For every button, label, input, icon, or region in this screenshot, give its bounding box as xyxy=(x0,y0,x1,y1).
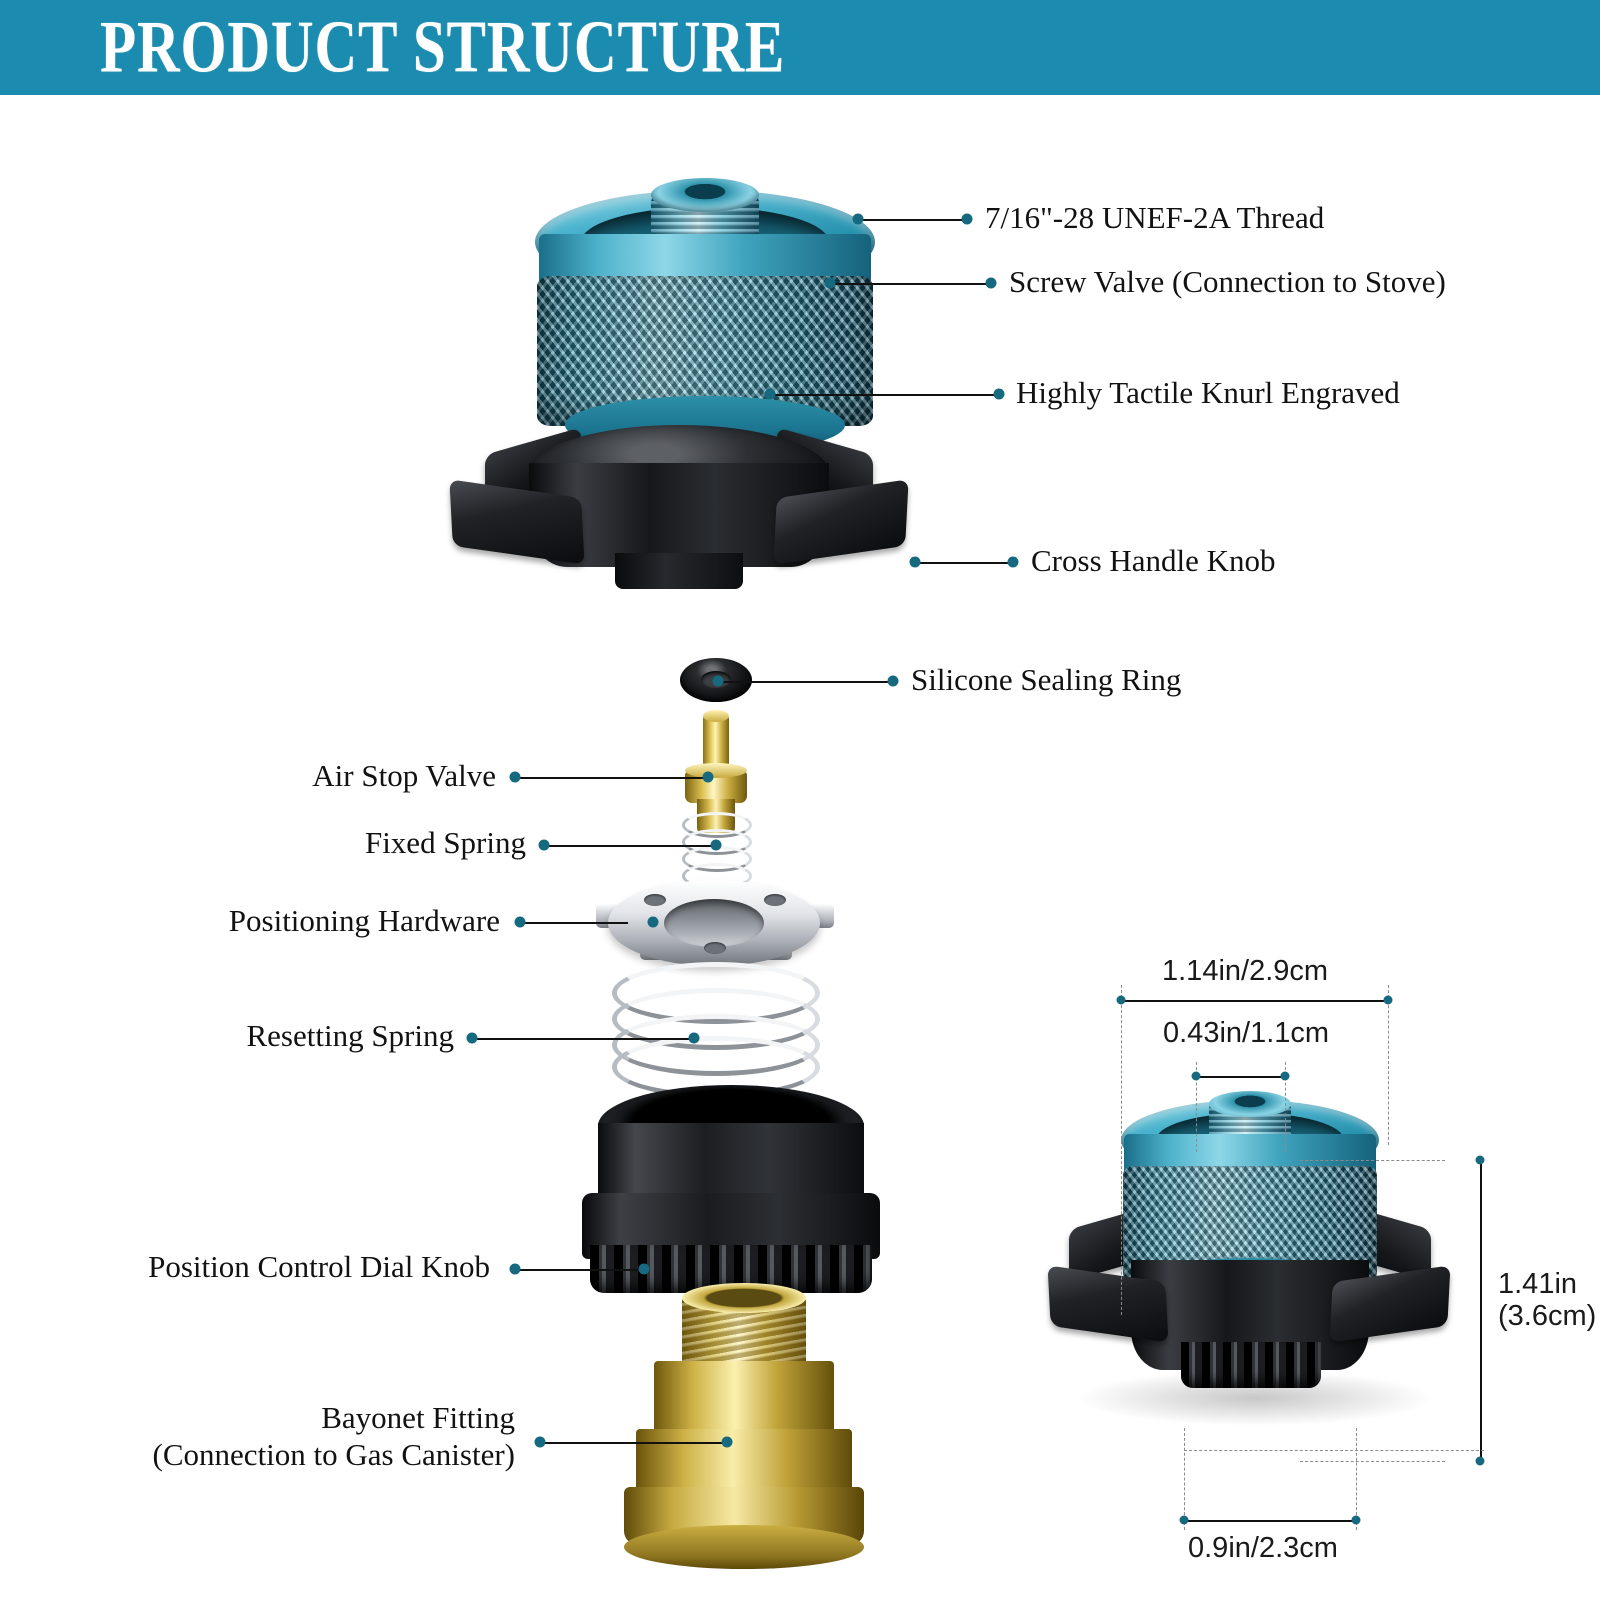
positioning-hardware-bore xyxy=(664,899,764,947)
callout-label-knurl: Highly Tactile Knurl Engraved xyxy=(1016,375,1400,412)
dim-label-base-width: 0.9in/2.3cm xyxy=(1188,1532,1338,1564)
air-stop-valve-flange-top xyxy=(685,763,747,778)
leader-dot-bayonet-end xyxy=(722,1437,733,1448)
assembled-product-group xyxy=(1055,1080,1455,1440)
leader-dot-screw-valve-end xyxy=(986,278,997,289)
leader-dot-knurl-start xyxy=(765,389,776,400)
dim-guide-outer-left xyxy=(1121,985,1122,1315)
dim-dot-height-top xyxy=(1476,1156,1485,1165)
part-resetting-spring xyxy=(612,962,820,1098)
callout-label-screw-valve: Screw Valve (Connection to Stove) xyxy=(1009,264,1446,301)
leader-line-cross-handle-knob xyxy=(912,562,1014,564)
leader-line-air-stop-valve xyxy=(513,777,709,779)
callout-label-thread: 7/16"-28 UNEF-2A Thread xyxy=(985,200,1324,237)
part-positioning-hardware xyxy=(608,880,824,972)
dim-dot-outer-left xyxy=(1117,996,1126,1005)
bayonet-neck-top xyxy=(682,1283,806,1313)
dim-guide-height-bottom xyxy=(1300,1461,1445,1462)
leader-dot-fixed-spring-start xyxy=(539,840,550,851)
leader-line-knurl xyxy=(768,394,1000,396)
leader-dot-thread-end xyxy=(962,214,973,225)
callout-label-bayonet-fitting-line2: (Connection to Gas Canister) xyxy=(50,1437,515,1474)
leader-dot-cross-handle-start xyxy=(910,557,921,568)
dim-guide-base-top xyxy=(1184,1450,1484,1451)
dim-dot-height-bottom xyxy=(1476,1457,1485,1466)
bayonet-body-upper xyxy=(654,1361,834,1439)
leader-line-dial-knob xyxy=(513,1269,643,1271)
callout-label-air-stop-valve: Air Stop Valve xyxy=(186,758,496,795)
positioning-hardware-hole xyxy=(764,894,786,906)
part-bayonet-fitting xyxy=(622,1295,866,1575)
leader-dot-cross-handle-end xyxy=(1008,557,1019,568)
dim-label-thread-width: 0.43in/1.1cm xyxy=(1163,1017,1329,1049)
callout-label-silicone-sealing-ring: Silicone Sealing Ring xyxy=(911,662,1181,699)
dim-dot-thread-right xyxy=(1281,1072,1290,1081)
leader-dot-resetting-spring-start xyxy=(467,1033,478,1044)
leader-dot-positioning-hardware-start xyxy=(515,917,526,928)
leader-dot-thread-start xyxy=(853,214,864,225)
thread-nipple-top xyxy=(651,178,759,212)
leader-line-screw-valve xyxy=(828,283,992,285)
assembled-thread-nipple-top xyxy=(1209,1091,1291,1117)
leader-dot-knurl-end xyxy=(994,389,1005,400)
positioning-hardware-hole xyxy=(644,894,666,906)
callout-label-position-control-dial-knob: Position Control Dial Knob xyxy=(60,1249,490,1286)
dim-line-base-width xyxy=(1184,1520,1356,1522)
leader-dot-dial-knob-end xyxy=(639,1264,650,1275)
leader-line-fixed-spring xyxy=(542,845,717,847)
leader-dot-fixed-spring-end xyxy=(711,840,722,851)
cross-handle-foot xyxy=(615,553,743,589)
callout-label-bayonet-fitting-line1: Bayonet Fitting xyxy=(50,1400,515,1437)
part-screw-valve xyxy=(535,190,875,460)
leader-dot-resetting-spring-end xyxy=(689,1033,700,1044)
part-cross-handle-knob xyxy=(465,425,885,635)
leader-line-positioning-hardware xyxy=(518,922,628,924)
page-header: PRODUCT STRUCTURE xyxy=(0,0,1600,95)
leader-line-thread xyxy=(855,219,967,221)
page-title: PRODUCT STRUCTURE xyxy=(100,5,785,90)
dim-label-total-height-line1: 1.41in xyxy=(1498,1268,1596,1300)
dim-label-total-height: 1.41in (3.6cm) xyxy=(1498,1268,1596,1333)
leader-dot-silicone-start xyxy=(713,676,724,687)
callout-label-positioning-hardware: Positioning Hardware xyxy=(140,903,500,940)
dim-dot-base-right xyxy=(1352,1516,1361,1525)
dim-label-outer-width: 1.14in/2.9cm xyxy=(1162,955,1328,987)
dim-guide-outer-right xyxy=(1388,985,1389,1145)
dim-line-total-height xyxy=(1480,1160,1482,1461)
leader-dot-bayonet-start xyxy=(535,1437,546,1448)
bayonet-base-bottom xyxy=(624,1525,864,1569)
leader-dot-silicone-end xyxy=(888,676,899,687)
dim-guide-height-top xyxy=(1300,1160,1445,1161)
leader-dot-screw-valve-start xyxy=(825,278,836,289)
callout-label-cross-handle-knob: Cross Handle Knob xyxy=(1031,543,1276,580)
dim-dot-base-left xyxy=(1180,1516,1189,1525)
dim-line-outer-width xyxy=(1121,1000,1388,1002)
assembled-product-shadow xyxy=(1075,1370,1435,1426)
callout-label-bayonet-fitting: Bayonet Fitting (Connection to Gas Canis… xyxy=(50,1400,515,1473)
callout-label-fixed-spring: Fixed Spring xyxy=(236,825,526,862)
callout-label-resetting-spring: Resetting Spring xyxy=(162,1018,454,1055)
leader-line-silicone-ring xyxy=(716,681,894,683)
dim-line-thread-width xyxy=(1196,1076,1285,1078)
dim-dot-outer-right xyxy=(1384,996,1393,1005)
leader-line-resetting-spring xyxy=(470,1038,696,1040)
dim-dot-thread-left xyxy=(1192,1072,1201,1081)
air-stop-valve-stem-top xyxy=(703,710,729,722)
leader-dot-dial-knob-start xyxy=(510,1264,521,1275)
leader-dot-air-stop-valve-end xyxy=(703,772,714,783)
leader-line-bayonet-fitting xyxy=(538,1442,728,1444)
dim-label-total-height-line2: (3.6cm) xyxy=(1498,1300,1596,1332)
leader-dot-positioning-hardware-end xyxy=(648,917,659,928)
positioning-hardware-hole xyxy=(704,942,726,954)
leader-dot-air-stop-valve-start xyxy=(510,772,521,783)
